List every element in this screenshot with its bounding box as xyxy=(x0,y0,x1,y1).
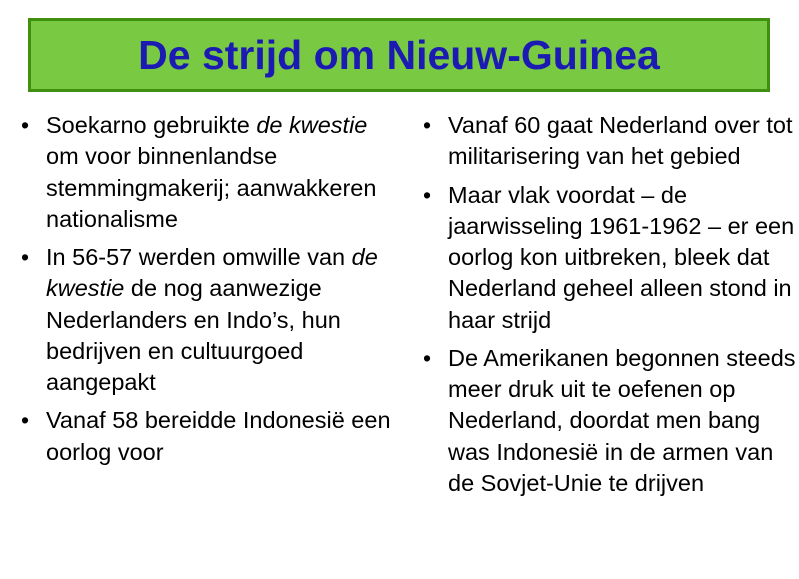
list-item: • Soekarno gebruikte de kwestie om voor … xyxy=(8,110,404,235)
list-item-text: Soekarno gebruikte de kwestie om voor bi… xyxy=(46,112,376,232)
plain-text: Maar vlak voordat – de jaarwisseling 196… xyxy=(448,182,794,333)
list-item-text: De Amerikanen begonnen steeds meer druk … xyxy=(448,345,796,496)
slide: De strijd om Nieuw-Guinea • Soekarno geb… xyxy=(0,0,799,579)
list-item-text: In 56-57 werden omwille van de kwestie d… xyxy=(46,244,378,395)
right-column: • Vanaf 60 gaat Nederland over tot milit… xyxy=(404,110,799,506)
list-item: • De Amerikanen begonnen steeds meer dru… xyxy=(410,343,799,499)
bullet-dot-icon: • xyxy=(423,180,431,211)
bullet-dot-icon: • xyxy=(21,405,29,436)
list-item: • In 56-57 werden omwille van de kwestie… xyxy=(8,242,404,398)
plain-text: Vanaf 58 bereidde Indonesië een oorlog v… xyxy=(46,407,391,464)
left-column: • Soekarno gebruikte de kwestie om voor … xyxy=(0,110,404,475)
page-title: De strijd om Nieuw-Guinea xyxy=(138,35,660,76)
list-item-text: Vanaf 60 gaat Nederland over tot militar… xyxy=(448,112,792,169)
left-bullet-list: • Soekarno gebruikte de kwestie om voor … xyxy=(8,110,404,468)
plain-text: om voor binnenlandse stemmingmakerij; aa… xyxy=(46,143,376,232)
plain-text: Vanaf 60 gaat Nederland over tot militar… xyxy=(448,112,792,169)
bullet-dot-icon: • xyxy=(423,343,431,374)
plain-text: De Amerikanen begonnen steeds meer druk … xyxy=(448,345,796,496)
bullet-dot-icon: • xyxy=(21,242,29,273)
bullet-dot-icon: • xyxy=(423,110,431,141)
slide-body: • Soekarno gebruikte de kwestie om voor … xyxy=(0,110,799,506)
emphasis-text: de kwestie xyxy=(256,112,367,138)
slide-title-banner: De strijd om Nieuw-Guinea xyxy=(28,18,770,92)
bullet-dot-icon: • xyxy=(21,110,29,141)
plain-text: Soekarno gebruikte xyxy=(46,112,256,138)
list-item-text: Vanaf 58 bereidde Indonesië een oorlog v… xyxy=(46,407,391,464)
list-item: • Maar vlak voordat – de jaarwisseling 1… xyxy=(410,180,799,336)
list-item: • Vanaf 58 bereidde Indonesië een oorlog… xyxy=(8,405,404,468)
list-item-text: Maar vlak voordat – de jaarwisseling 196… xyxy=(448,182,794,333)
plain-text: In 56-57 werden omwille van xyxy=(46,244,352,270)
right-bullet-list: • Vanaf 60 gaat Nederland over tot milit… xyxy=(410,110,799,499)
list-item: • Vanaf 60 gaat Nederland over tot milit… xyxy=(410,110,799,173)
